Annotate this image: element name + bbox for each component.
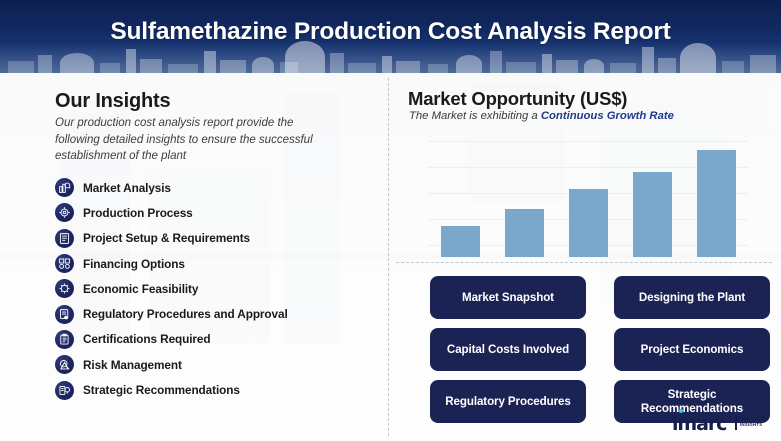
risk-management-icon (55, 355, 74, 374)
chart-bar-wrapper (620, 139, 684, 257)
market-opportunity-chart (428, 135, 748, 257)
imarc-logo: imarc IMPACTFUL INSIGHTS (672, 409, 772, 435)
list-item-label: Economic Feasibility (83, 282, 198, 296)
list-item[interactable]: Regulatory Procedures and Approval (55, 301, 375, 326)
list-item-label: Strategic Recommendations (83, 383, 240, 397)
logo-wordmark: imarc (672, 413, 726, 435)
list-item[interactable]: Project Setup & Requirements (55, 226, 375, 251)
project-setup-icon (55, 229, 74, 248)
chart-bar (633, 172, 672, 257)
list-item-label: Regulatory Procedures and Approval (83, 307, 288, 321)
logo-divider (735, 415, 737, 430)
section-button-grid: Market Snapshot Designing the Plant Capi… (430, 276, 770, 423)
strategic-recommendations-icon (55, 381, 74, 400)
subtitle-prefix: The Market is exhibiting a (409, 110, 541, 122)
chart-bar (441, 226, 480, 257)
production-process-icon (55, 203, 74, 222)
report-page: Sulfamethazine Production Cost Analysis … (0, 0, 781, 441)
chart-bar (569, 189, 608, 257)
button-project-economics[interactable]: Project Economics (614, 328, 770, 371)
list-item-label: Production Process (83, 206, 193, 220)
economic-feasibility-icon (55, 279, 74, 298)
list-item[interactable]: Certifications Required (55, 327, 375, 352)
list-item-label: Project Setup & Requirements (83, 231, 250, 245)
list-item[interactable]: Economic Feasibility (55, 276, 375, 301)
logo-tagline: IMPACTFUL INSIGHTS (740, 416, 767, 428)
list-item[interactable]: Financing Options (55, 251, 375, 276)
chart-bar-wrapper (492, 139, 556, 257)
list-item[interactable]: Strategic Recommendations (55, 377, 375, 402)
market-opportunity-panel: Market Opportunity (US$) The Market is e… (388, 73, 781, 441)
list-item-label: Financing Options (83, 257, 185, 271)
financing-options-icon (55, 254, 74, 273)
list-item-label: Risk Management (83, 358, 182, 372)
list-item[interactable]: Risk Management (55, 352, 375, 377)
list-item-label: Market Analysis (83, 181, 171, 195)
regulatory-procedures-icon (55, 305, 74, 324)
chart-bar (697, 150, 736, 257)
list-item[interactable]: Production Process (55, 200, 375, 225)
logo-tagline-line1: IMPACTFUL (740, 416, 767, 421)
list-item[interactable]: Market Analysis (55, 175, 375, 200)
insights-panel: Our Insights Our production cost analysi… (0, 73, 388, 441)
button-designing-the-plant[interactable]: Designing the Plant (614, 276, 770, 319)
button-market-snapshot[interactable]: Market Snapshot (430, 276, 586, 319)
chart-bar-wrapper (428, 139, 492, 257)
chart-bar (505, 209, 544, 257)
market-analysis-icon (55, 178, 74, 197)
chart-bar-wrapper (684, 139, 748, 257)
market-opportunity-heading: Market Opportunity (US$) (408, 88, 627, 110)
chart-bar-wrapper (556, 139, 620, 257)
subtitle-accent: Continuous Growth Rate (541, 110, 674, 122)
logo-tagline-line2: INSIGHTS (740, 422, 762, 427)
button-regulatory-procedures[interactable]: Regulatory Procedures (430, 380, 586, 423)
insights-list: Market Analysis Production Process (55, 175, 375, 403)
chart-bars (428, 139, 748, 257)
insights-heading: Our Insights (55, 90, 170, 113)
list-item-label: Certifications Required (83, 332, 211, 346)
certifications-icon (55, 330, 74, 349)
insights-subtitle: Our production cost analysis report prov… (55, 115, 340, 165)
report-title: Sulfamethazine Production Cost Analysis … (0, 18, 781, 46)
page-header: Sulfamethazine Production Cost Analysis … (0, 0, 781, 73)
market-opportunity-subtitle: The Market is exhibiting a Continuous Gr… (409, 110, 674, 122)
button-capital-costs-involved[interactable]: Capital Costs Involved (430, 328, 586, 371)
